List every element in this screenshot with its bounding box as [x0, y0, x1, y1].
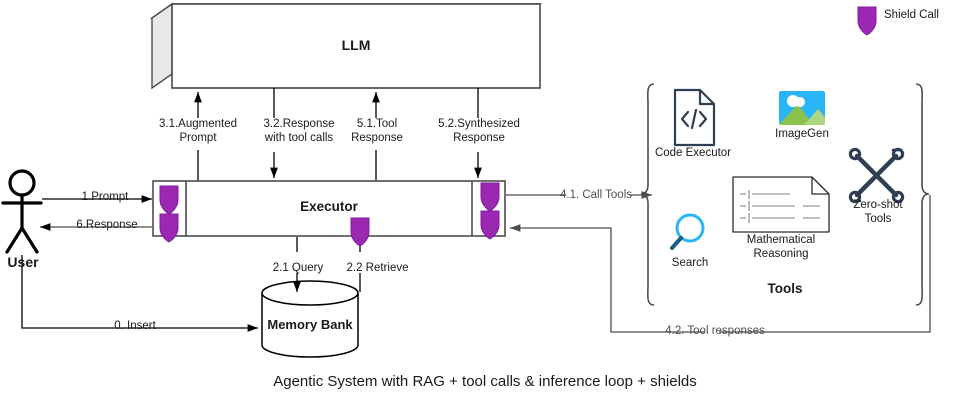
shield-icon-memory-retrieve — [351, 218, 369, 246]
edge-label-augmented-prompt: 3.1.Augmented Prompt — [141, 118, 255, 145]
code-document-icon[interactable] — [675, 90, 714, 145]
edge-label-synthesized-response: 5.2.Synthesized Response — [420, 118, 538, 145]
image-icon[interactable] — [779, 91, 831, 125]
tool-label-search: Search — [658, 257, 722, 271]
edge-label-tool-response: 5.1.Tool Response — [329, 118, 425, 145]
tool-label-code-executor: Code Executor — [648, 147, 738, 161]
edge-label-insert: 0. Insert — [80, 320, 190, 334]
tool-label-mathematical-reasoning: Mathematical Reasoning — [731, 234, 831, 261]
edge-label-response: 6.Response — [52, 219, 162, 233]
tools-group-label: Tools — [735, 282, 835, 296]
magnifier-icon[interactable] — [672, 215, 703, 248]
legend-label: Shield Call — [884, 9, 964, 23]
shield-icon-executor-in-bottom — [160, 214, 178, 242]
math-document-icon[interactable] — [733, 177, 829, 232]
user-label: User — [0, 256, 46, 270]
user-node[interactable] — [3, 171, 41, 252]
llm-label: LLM — [306, 39, 406, 53]
tool-label-imagegen: ImageGen — [766, 128, 838, 142]
diagram-caption: Agentic System with RAG + tool calls & i… — [185, 375, 785, 389]
executor-label: Executor — [279, 200, 379, 214]
edge-label-call-tools: 4.1. Call Tools — [546, 189, 646, 203]
edge-label-retrieve: 2.2 Retrieve — [325, 262, 430, 276]
edge-insert — [22, 255, 258, 328]
shield-icon-legend — [858, 7, 876, 35]
crossed-wrenches-icon[interactable] — [850, 149, 902, 201]
memory-bank-label: Memory Bank — [260, 318, 360, 332]
edge-label-tool-responses: 4.2. Tool responses — [660, 325, 770, 339]
edge-label-prompt: 1.Prompt — [55, 191, 155, 205]
diagram-canvas — [0, 0, 970, 411]
tool-label-zero-shot-tools: Zero-shot Tools — [838, 199, 918, 226]
